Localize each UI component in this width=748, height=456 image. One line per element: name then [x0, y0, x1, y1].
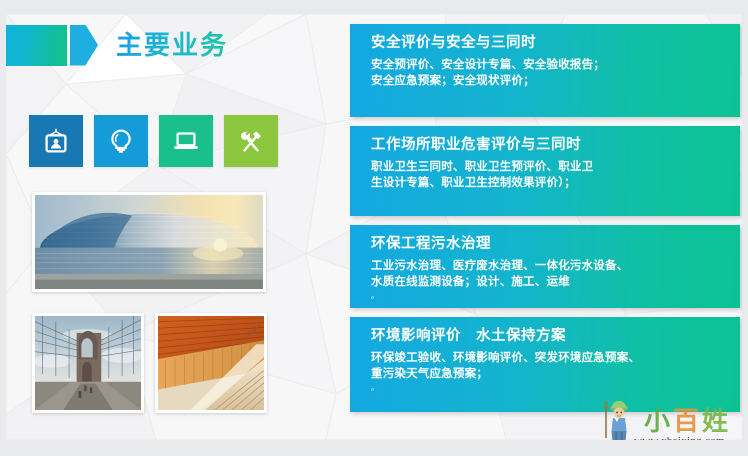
- panel-title: 环境影响评价 水土保持方案: [371, 326, 740, 346]
- laptop-icon-tile[interactable]: [159, 115, 213, 167]
- farmer-mascot-icon: [600, 398, 634, 444]
- photo-brooklyn-bridge: [32, 313, 144, 413]
- tools-icon-tile[interactable]: [224, 115, 278, 167]
- watermark-char-3: 姓: [702, 406, 731, 436]
- panel-body: 环保竣工验收、环境影响评价、突发环境应急预案、 重污染天气应急预案；: [371, 351, 740, 382]
- photo-wooden-interior: [155, 313, 267, 413]
- photo-wooden-interior-art: [158, 316, 264, 410]
- tools-icon: [236, 126, 266, 156]
- watermark-characters: 小百姓: [644, 407, 731, 435]
- page-title: 主要业务: [116, 25, 228, 65]
- panel-title: 安全评价与安全与三同时: [371, 33, 740, 53]
- frame-right: [742, 0, 748, 456]
- certificate-frame-icon-tile[interactable]: [29, 115, 83, 167]
- business-panel[interactable]: 安全评价与安全与三同时 安全预评价、安全设计专篇、安全验收报告； 安全应急预案；…: [350, 24, 740, 117]
- panel-body: 安全预评价、安全设计专篇、安全验收报告； 安全应急预案；安全现状评价；: [371, 58, 740, 89]
- laptop-icon: [171, 126, 201, 156]
- lightbulb-icon-tile[interactable]: [94, 115, 148, 167]
- business-panel[interactable]: 工作场所职业危害评价与三同时 职业卫生三同时、职业卫生预评价、职业卫 生设计专篇…: [350, 126, 740, 216]
- panel-body: 工业污水治理、医疗废水治理、一体化污水设备、 水质在线监测设备；设计、施工、运维: [371, 259, 740, 290]
- title-gradient-bar: [4, 25, 67, 66]
- watermark-char-1: 小: [644, 406, 673, 436]
- photo-brooklyn-bridge-art: [35, 316, 141, 410]
- frame-bottom: [0, 440, 748, 456]
- section-title-group: 主要业务: [4, 24, 228, 66]
- title-arrow-icon: [70, 25, 98, 66]
- frame-top: [0, 0, 748, 14]
- business-panel[interactable]: 环保工程污水治理 工业污水治理、医疗废水治理、一体化污水设备、 水质在线监测设备…: [350, 225, 740, 308]
- watermark-char-2: 百: [673, 406, 702, 436]
- business-panel-list: 安全评价与安全与三同时 安全预评价、安全设计专篇、安全验收报告； 安全应急预案；…: [350, 24, 740, 421]
- panel-tail: 。: [371, 291, 740, 300]
- certificate-frame-icon: [41, 126, 71, 156]
- photo-performing-arts-center-art: [35, 195, 263, 289]
- panel-title: 工作场所职业危害评价与三同时: [371, 135, 740, 155]
- icon-row: [29, 115, 278, 167]
- panel-body: 职业卫生三同时、职业卫生预评价、职业卫 生设计专篇、职业卫生控制效果评价）；: [371, 160, 740, 191]
- panel-title: 环保工程污水治理: [371, 234, 740, 254]
- frame-left: [0, 0, 6, 456]
- lightbulb-icon: [106, 126, 136, 156]
- slide-root: 主要业务: [0, 0, 748, 456]
- panel-tail: 。: [371, 383, 740, 392]
- photo-performing-arts-center: [32, 192, 266, 292]
